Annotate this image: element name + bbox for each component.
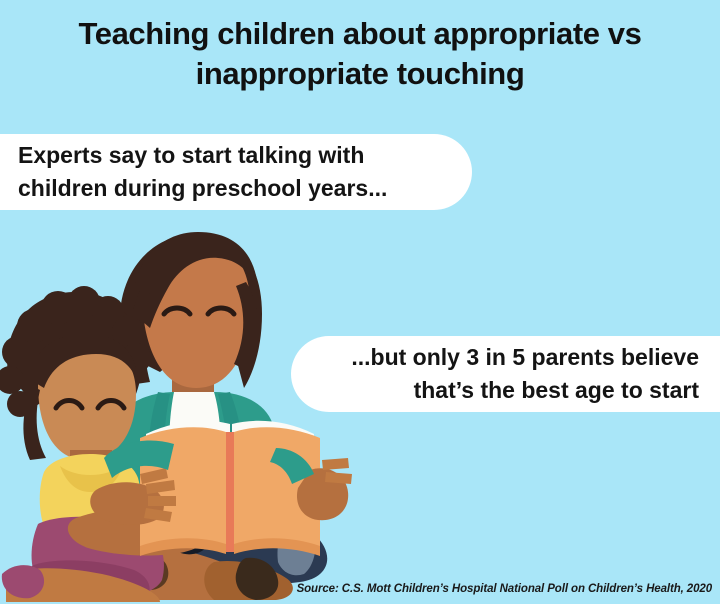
page-title: Teaching children about appropriate vs i… (0, 14, 720, 94)
mother-and-child-reading-illustration: My Body (0, 222, 380, 604)
callout-parents-bubble: ...but only 3 in 5 parents believe that’… (291, 336, 720, 412)
callout-experts-line-2: children during preschool years... (18, 172, 444, 205)
page-title-line-2: inappropriate touching (0, 54, 720, 94)
infographic-canvas: Teaching children about appropriate vs i… (0, 0, 720, 604)
callout-parents-line-1: ...but only 3 in 5 parents believe (321, 341, 699, 374)
callout-parents-line-2: that’s the best age to start (321, 374, 699, 407)
source-attribution: Source: C.S. Mott Children’s Hospital Na… (297, 583, 712, 595)
callout-experts-bubble: Experts say to start talking with childr… (0, 134, 472, 210)
page-title-line-1: Teaching children about appropriate vs (0, 14, 720, 54)
illustration-svg (0, 222, 380, 604)
callout-experts-line-1: Experts say to start talking with (18, 139, 444, 172)
